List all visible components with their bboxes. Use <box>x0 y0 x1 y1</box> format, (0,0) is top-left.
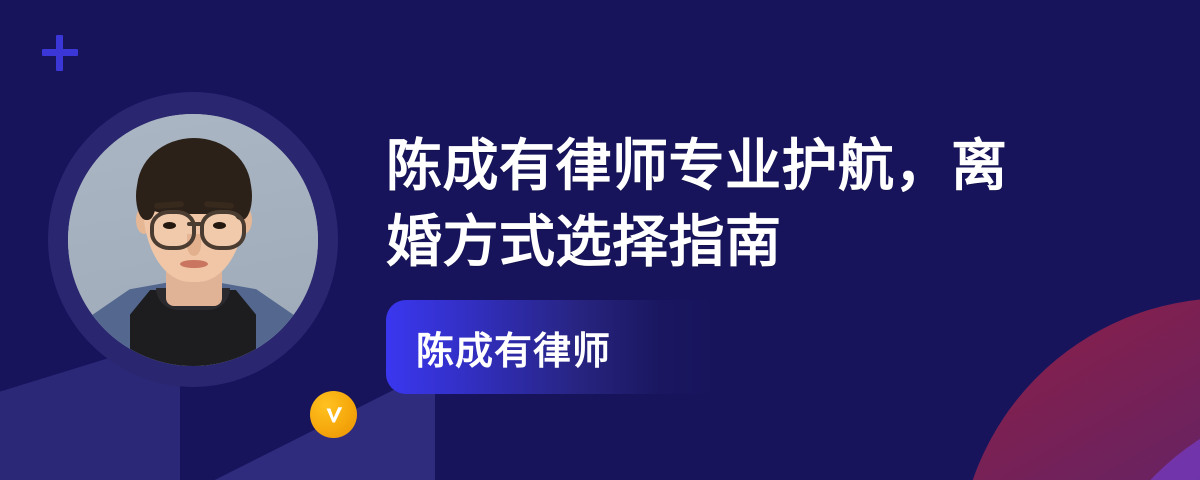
portrait-glasses-right <box>200 210 246 250</box>
decorative-circle-violet <box>1080 398 1200 480</box>
banner-content: 陈成有律师专业护航，离 婚方式选择指南 陈成有律师 <box>386 128 1106 394</box>
avatar <box>48 92 338 387</box>
plus-icon <box>40 33 80 73</box>
portrait-eye-right <box>213 222 226 229</box>
lawyer-promo-banner: 陈成有律师专业护航，离 婚方式选择指南 陈成有律师 <box>0 0 1200 480</box>
portrait-hair-side-left <box>136 172 156 220</box>
portrait-glasses-bridge <box>187 222 202 226</box>
portrait-eye-left <box>163 222 176 229</box>
portrait-glasses-left <box>150 210 196 250</box>
lawyer-name-button[interactable]: 陈成有律师 <box>386 300 720 394</box>
page-title: 陈成有律师专业护航，离 婚方式选择指南 <box>386 128 1106 280</box>
portrait-mouth <box>180 260 208 268</box>
verified-badge-icon <box>310 391 357 438</box>
avatar-photo <box>68 114 318 366</box>
decorative-triangle-middle <box>175 390 435 480</box>
